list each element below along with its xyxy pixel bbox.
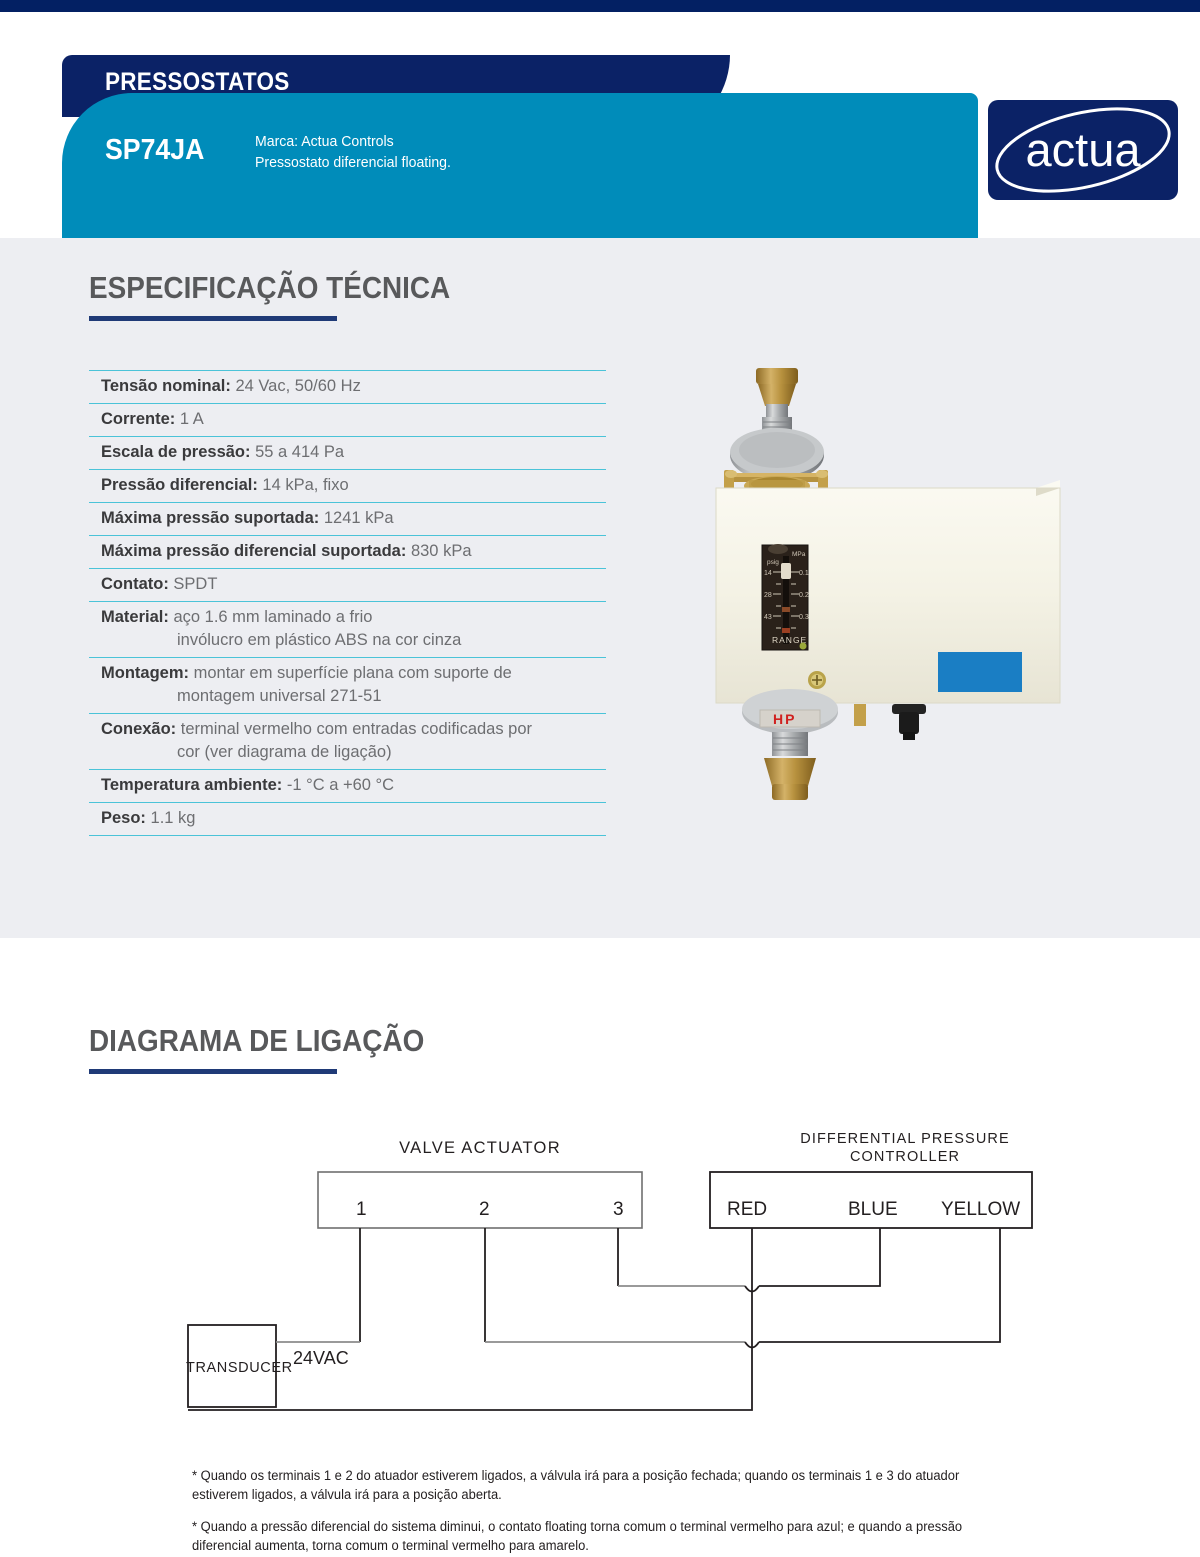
spec-value: SPDT — [173, 575, 217, 593]
spec-row: Máxima pressão diferencial suportada: 83… — [89, 536, 606, 569]
range-tick-right-1: 0.1 — [799, 570, 809, 577]
spec-label: Máxima pressão suportada: — [101, 509, 319, 527]
spec-label: Material: — [101, 608, 169, 626]
spec-row: Temperatura ambiente: -1 °C a +60 °C — [89, 770, 606, 803]
spec-label: Montagem: — [101, 664, 189, 682]
range-tick-right-3: 0.3 — [799, 614, 809, 621]
spec-row: Montagem: montar em superfície plana com… — [89, 658, 606, 714]
spec-value: terminal vermelho com entradas codificad… — [181, 720, 532, 738]
spec-value-continuation: cor (ver diagrama de ligação) — [101, 741, 606, 764]
range-unit-left: psig — [767, 559, 779, 566]
valve-terminal-2: 2 — [479, 1199, 490, 1220]
valve-actuator-label: VALVE ACTUATOR — [399, 1139, 561, 1157]
spec-row: Peso: 1.1 kg — [89, 803, 606, 836]
spec-label: Corrente: — [101, 410, 175, 428]
spec-row: Escala de pressão: 55 a 414 Pa — [89, 437, 606, 470]
range-tick-right-2: 0.2 — [799, 592, 809, 599]
svg-text:actua: actua — [1026, 123, 1142, 176]
controller-terminal-yellow: YELLOW — [941, 1199, 1020, 1220]
spec-row: Contato: SPDT — [89, 569, 606, 602]
spec-value: 14 kPa, fixo — [262, 476, 348, 494]
specification-title-rule — [89, 316, 337, 321]
header-cyan-inner — [62, 93, 978, 261]
wiring-diagram: VALVE ACTUATOR DIFFERENTIAL PRESSURE CON… — [0, 1110, 1100, 1440]
controller-label-line2: CONTROLLER — [850, 1149, 960, 1165]
spec-label: Máxima pressão diferencial suportada: — [101, 542, 406, 560]
controller-label-line1: DIFFERENTIAL PRESSURE — [800, 1131, 1009, 1147]
footnote-item: * Quando os terminais 1 e 2 do atuador e… — [192, 1466, 1006, 1504]
spec-label: Escala de pressão: — [101, 443, 251, 461]
header-cyan-band — [62, 93, 978, 261]
spec-label: Pressão diferencial: — [101, 476, 258, 494]
specification-section-title: ESPECIFICAÇÃO TÉCNICA — [89, 270, 450, 306]
actua-logo: actua — [988, 100, 1178, 200]
spec-value: aço 1.6 mm laminado a frio — [173, 608, 372, 626]
spec-row: Corrente: 1 A — [89, 404, 606, 437]
diagram-section-title: DIAGRAMA DE LIGAÇÃO — [89, 1023, 424, 1059]
controller-terminal-blue: BLUE — [848, 1199, 898, 1220]
specification-table: Tensão nominal: 24 Vac, 50/60 Hz Corrent… — [89, 370, 606, 836]
spec-value: 830 kPa — [411, 542, 472, 560]
spec-value: -1 °C a +60 °C — [287, 776, 394, 794]
hp-port-label: HP — [773, 711, 796, 727]
spec-row: Máxima pressão suportada: 1241 kPa — [89, 503, 606, 536]
header-category-title: PRESSOSTATOS — [105, 68, 290, 97]
spec-row: Conexão: terminal vermelho com entradas … — [89, 714, 606, 770]
top-accent-rule — [0, 0, 1200, 12]
range-tick-left-1: 14 — [764, 570, 772, 577]
range-tick-left-3: 43 — [764, 614, 772, 621]
product-photo: psig MPa 14 28 43 0.1 0.2 0.3 — [700, 360, 1100, 840]
range-tick-left-2: 28 — [764, 592, 772, 599]
spec-value: 1241 kPa — [324, 509, 394, 527]
header-brand-line: Marca: Actua Controls — [255, 131, 451, 152]
spec-value-continuation: invólucro em plástico ABS na cor cinza — [101, 629, 606, 652]
spec-label: Temperatura ambiente: — [101, 776, 282, 794]
spec-row: Tensão nominal: 24 Vac, 50/60 Hz — [89, 370, 606, 404]
spec-label: Tensão nominal: — [101, 377, 231, 395]
spec-value: 24 Vac, 50/60 Hz — [235, 377, 360, 395]
transducer-label: TRANSDUCER — [186, 1360, 293, 1376]
datasheet-page: PRESSOSTATOS SP74JA Marca: Actua Control… — [0, 0, 1200, 1557]
spec-value: 55 a 414 Pa — [255, 443, 344, 461]
header-description-line: Pressostato diferencial floating. — [255, 152, 451, 173]
range-unit-right: MPa — [792, 551, 806, 558]
spec-value: 1 A — [180, 410, 204, 428]
diagram-title-rule — [89, 1069, 337, 1074]
valve-terminal-1: 1 — [356, 1199, 367, 1220]
valve-terminal-3: 3 — [613, 1199, 624, 1220]
blue-sticker — [938, 652, 1022, 692]
footnotes: * Quando os terminais 1 e 2 do atuador e… — [192, 1466, 1040, 1557]
spec-value-continuation: montagem universal 271-51 — [101, 685, 606, 708]
supply-voltage-label: 24VAC — [293, 1348, 349, 1368]
spec-label: Peso: — [101, 809, 146, 827]
spec-value: 1.1 kg — [151, 809, 196, 827]
spec-row: Material: aço 1.6 mm laminado a frio inv… — [89, 602, 606, 658]
spec-label: Conexão: — [101, 720, 176, 738]
footnote-item: * Quando a pressão diferencial do sistem… — [192, 1517, 1006, 1555]
header-subtitle: Marca: Actua Controls Pressostato difere… — [255, 131, 451, 173]
spec-value: montar em superfície plana com suporte d… — [194, 664, 512, 682]
controller-terminal-red: RED — [727, 1199, 767, 1220]
spec-row: Pressão diferencial: 14 kPa, fixo — [89, 470, 606, 503]
header-model-code: SP74JA — [105, 134, 204, 167]
spec-label: Contato: — [101, 575, 169, 593]
